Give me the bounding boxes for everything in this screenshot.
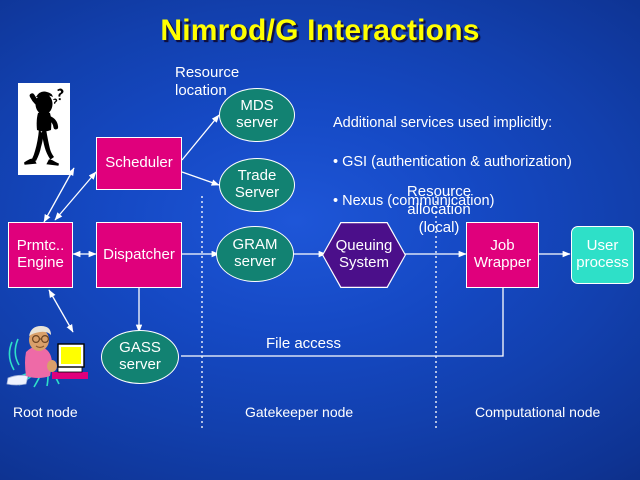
additional-services-note: Additional services used implicitly: • G… (333, 94, 635, 231)
zone-label-root: Root node (13, 404, 78, 420)
node-mds-server[interactable]: MDS server (219, 88, 295, 142)
node-scheduler[interactable]: Scheduler (96, 137, 182, 190)
node-gram-server[interactable]: GRAM server (216, 226, 294, 282)
thinking-person-clipart (18, 83, 70, 175)
note-bullet-gsi: • GSI (authentication & authorization) (333, 153, 635, 173)
person-at-computer-icon (6, 322, 92, 390)
connector-scheduler-mds (182, 115, 219, 160)
label-file-access: File access (266, 335, 386, 353)
node-prmtc-engine[interactable]: Prmtc.. Engine (8, 222, 73, 288)
note-heading: Additional services used implicitly: (333, 114, 635, 134)
note-bullet-nexus: • Nexus (communication) (333, 192, 635, 212)
node-gass-server[interactable]: GASS server (101, 330, 179, 384)
slide-title: Nimrod/G Interactions (0, 14, 640, 48)
node-queuing-system[interactable]: Queuing System (322, 222, 406, 288)
slide-canvas: Nimrod/G Interactions (0, 0, 640, 480)
connector-thinker-prmtc (44, 168, 74, 222)
connector-scheduler-trade (182, 172, 219, 185)
thinking-person-icon (18, 83, 70, 175)
person-at-computer-clipart (6, 322, 92, 390)
zone-label-gatekeeper: Gatekeeper node (245, 404, 353, 420)
node-user-process[interactable]: User process (571, 226, 634, 284)
zone-label-computational: Computational node (475, 404, 600, 420)
connector-prmtc-scheduler (55, 172, 96, 220)
node-trade-server[interactable]: Trade Server (219, 158, 295, 212)
node-dispatcher[interactable]: Dispatcher (96, 222, 182, 288)
node-job-wrapper[interactable]: Job Wrapper (466, 222, 539, 288)
